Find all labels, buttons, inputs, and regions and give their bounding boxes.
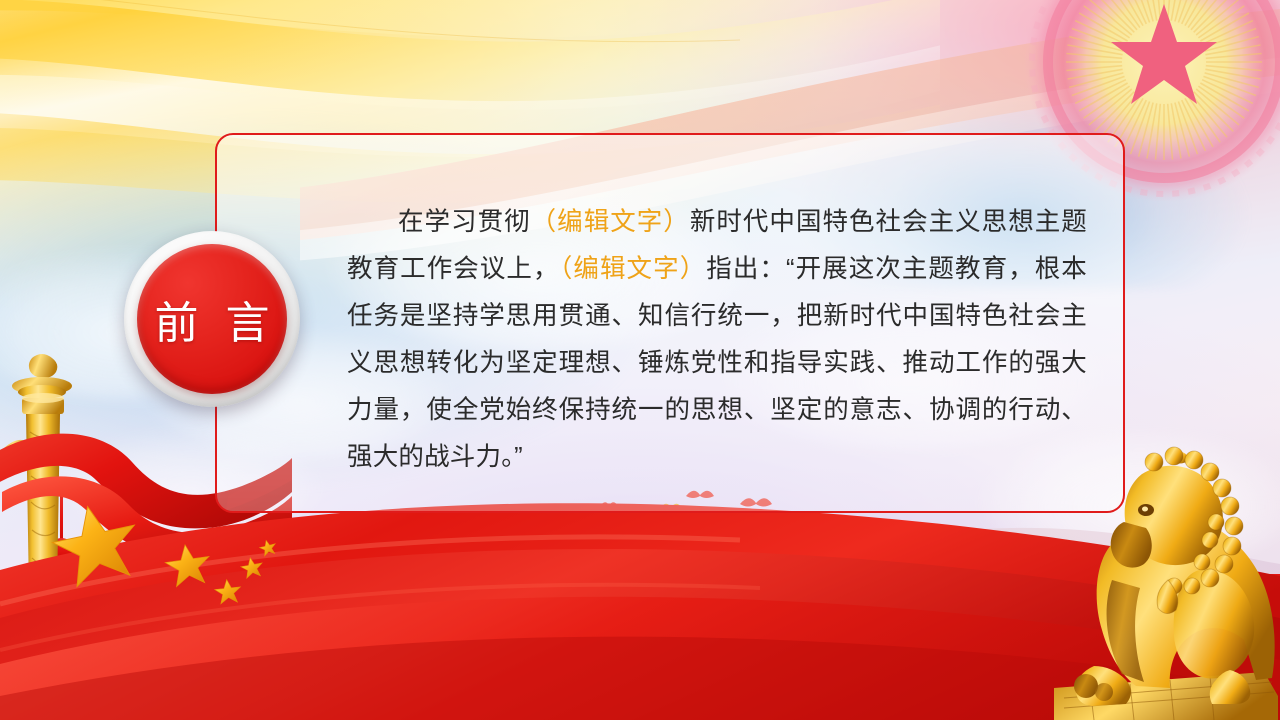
slide-canvas: 在学习贯彻（编辑文字）新时代中国特色社会主义思想主题教育工作会议上，（编辑文字）… <box>0 0 1280 720</box>
preface-paragraph: 在学习贯彻（编辑文字）新时代中国特色社会主义思想主题教育工作会议上，（编辑文字）… <box>347 199 1087 481</box>
text-segment-1: 在学习贯彻 <box>398 208 531 236</box>
section-badge-circle: 前 言 <box>137 244 287 394</box>
text-segment-highlight-2: （编辑文字） <box>560 255 707 283</box>
content-box: 在学习贯彻（编辑文字）新时代中国特色社会主义思想主题教育工作会议上，（编辑文字）… <box>215 133 1125 513</box>
section-badge: 前 言 <box>124 231 300 407</box>
text-segment-3: 指出：“开展这次主题教育，根本任务是坚持学思用贯通、知信行统一，把新时代中国特色… <box>347 255 1087 471</box>
section-badge-label: 前 言 <box>147 287 278 351</box>
text-segment-highlight-1: （编辑文字） <box>531 208 690 236</box>
